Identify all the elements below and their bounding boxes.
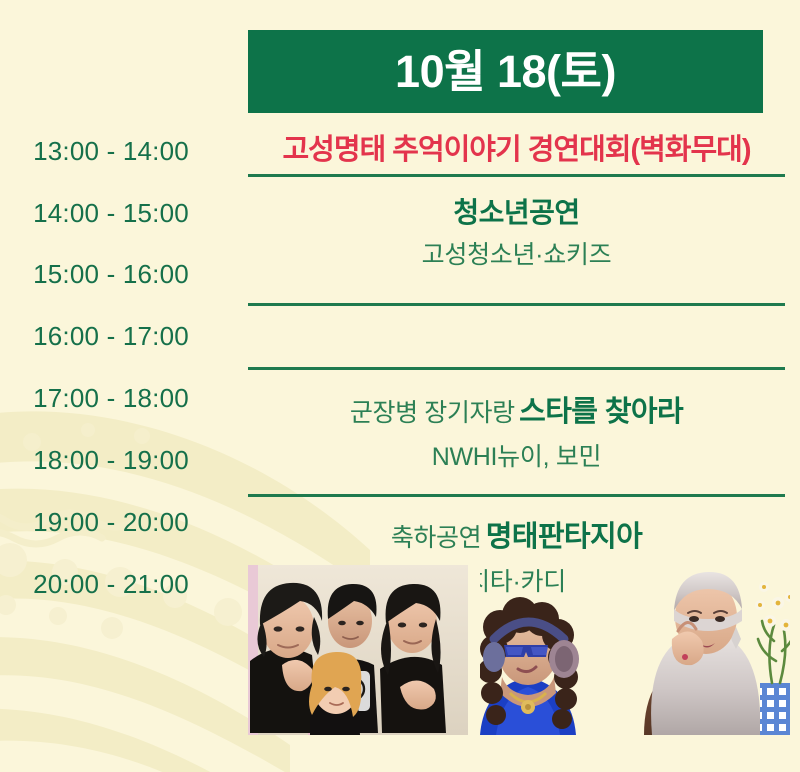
program-title: 고성명태 추억이야기 경연대회	[282, 134, 630, 166]
row-divider	[248, 303, 785, 306]
program-title: 스타를 찾아라	[519, 396, 683, 428]
time-slot: 16:00 - 17:00	[0, 323, 222, 349]
time-column: 13:00 - 14:00 14:00 - 15:00 15:00 - 16:0…	[0, 118, 240, 638]
row-divider	[248, 367, 785, 370]
time-slot: 14:00 - 15:00	[0, 200, 222, 226]
program-venue: (벽화무대)	[630, 134, 750, 166]
time-slot: 18:00 - 19:00	[0, 447, 222, 473]
time-slot: 19:00 - 20:00	[0, 509, 222, 535]
time-slot: 15:00 - 16:00	[0, 261, 222, 287]
program-title: 청소년공연	[248, 198, 785, 229]
program-performers: NWHI뉴이, 보민	[248, 443, 785, 472]
program-entry: 군장병 장기자랑 스타를 찾아라 NWHI뉴이, 보민	[248, 388, 785, 472]
time-slot: 20:00 - 21:00	[0, 571, 222, 597]
artist-photo-strip	[248, 565, 790, 735]
program-title-line: 축하공연 명태판타지아	[248, 513, 785, 555]
program-lead: 축하공연	[391, 524, 481, 552]
date-header-band: 10월 18(토)	[248, 30, 763, 113]
row-divider	[248, 494, 785, 497]
program-lead: 군장병 장기자랑	[350, 399, 515, 427]
festival-schedule-poster: 13:00 - 14:00 14:00 - 15:00 15:00 - 16:0…	[0, 0, 800, 772]
time-slot: 13:00 - 14:00	[0, 138, 222, 164]
program-entry: 고성명태 추억이야기 경연대회(벽화무대)	[248, 135, 785, 167]
program-title-line: 군장병 장기자랑 스타를 찾아라	[248, 388, 785, 430]
program-entry: 청소년공연 고성청소년·쇼키즈	[248, 198, 785, 270]
time-slot: 17:00 - 18:00	[0, 385, 222, 411]
program-performers: 고성청소년·쇼키즈	[248, 241, 785, 270]
program-title: 명태판타지아	[486, 521, 642, 553]
row-divider	[248, 174, 785, 177]
date-header-title: 10월 18(토)	[395, 49, 616, 94]
